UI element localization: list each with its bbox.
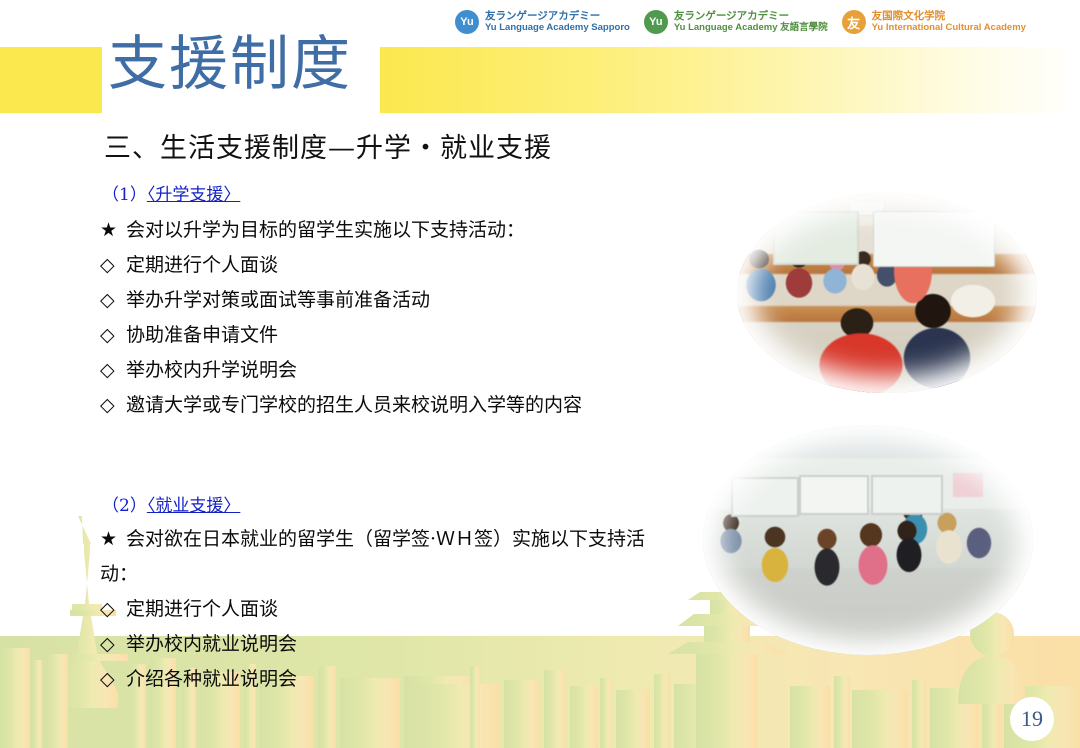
bullet-text: 协助准备申请文件	[126, 324, 278, 346]
subsection-number-1: （1）	[102, 185, 147, 205]
logo-en-name: Yu Language Academy Sapporo	[485, 23, 630, 34]
photo-classroom-with-teacher	[737, 193, 1037, 393]
photo-vignette-mask	[703, 425, 1033, 655]
yu-circle-logo-icon: Yu	[644, 10, 668, 34]
subsection-title-2: 〈就业支援〉	[147, 496, 241, 516]
logo-yu-international-cultural-academy: 友 友国際文化学院 Yu International Cultural Acad…	[842, 10, 1026, 34]
diamond-bullet-icon: ◇	[100, 324, 126, 346]
diamond-bullet-icon: ◇	[100, 289, 126, 311]
bullet-text: 举办升学对策或面试等事前准备活动	[126, 289, 430, 311]
photo-vignette-mask	[737, 193, 1037, 393]
you-circle-logo-icon: 友	[842, 10, 866, 34]
logo-jp-name: 友ランゲージアカデミー	[485, 11, 630, 23]
logo-jp-name: 友ランゲージアカデミー	[674, 11, 828, 23]
logo-en-name: Yu International Cultural Academy	[872, 23, 1026, 34]
subsection-label-1: （1）〈升学支援〉	[102, 180, 240, 205]
logo-yu-language-academy-taipei: Yu 友ランゲージアカデミー Yu Language Academy 友語言學院	[644, 10, 828, 34]
logo-en-name: Yu Language Academy 友語言學院	[674, 23, 828, 34]
bullet-text: 举办校内就业说明会	[126, 633, 297, 655]
bullet-line: ★会对欲在日本就业的留学生（留学签·ＷＨ签）实施以下支持活	[100, 524, 645, 551]
bullet-line: ◇举办校内就业说明会	[100, 629, 297, 656]
bullet-text: 会对欲在日本就业的留学生（留学签·ＷＨ签）实施以下支持活	[126, 528, 645, 550]
bullet-line: ◇举办升学对策或面试等事前准备活动	[100, 285, 430, 312]
bullet-line: ◇邀请大学或专门学校的招生人员来校说明入学等的内容	[100, 390, 582, 417]
bullet-line: ◇定期进行个人面谈	[100, 594, 278, 621]
bullet-line: ★会对以升学为目标的留学生实施以下支持活动：	[100, 215, 525, 242]
bullet-text: 会对以升学为目标的留学生实施以下支持活动：	[126, 219, 525, 241]
diamond-bullet-icon: ◇	[100, 633, 126, 655]
bullet-text: 定期进行个人面谈	[126, 598, 278, 620]
bullet-line-continuation: 动：	[100, 559, 138, 586]
subsection-title-1: 〈升学支援〉	[147, 185, 241, 205]
diamond-bullet-icon: ◇	[100, 394, 126, 416]
bullet-line: ◇举办校内升学说明会	[100, 355, 297, 382]
bullet-line: ◇介绍各种就业说明会	[100, 664, 297, 691]
academy-logos: Yu 友ランゲージアカデミー Yu Language Academy Sappo…	[455, 4, 1080, 40]
slide-root: Yu 友ランゲージアカデミー Yu Language Academy Sappo…	[0, 0, 1080, 748]
diamond-bullet-icon: ◇	[100, 668, 126, 690]
logo-jp-name: 友国際文化学院	[872, 11, 1026, 23]
bullet-text: 介绍各种就业说明会	[126, 668, 297, 690]
star-bullet-icon: ★	[100, 528, 126, 550]
bullet-text: 邀请大学或专门学校的招生人员来校说明入学等的内容	[126, 394, 582, 416]
bullet-text: 举办校内升学说明会	[126, 359, 297, 381]
bullet-line: ◇定期进行个人面谈	[100, 250, 278, 277]
logo-yu-language-academy-sapporo: Yu 友ランゲージアカデミー Yu Language Academy Sappo…	[455, 10, 630, 34]
subsection-label-2: （2）〈就业支援〉	[102, 491, 240, 516]
photo-seminar-room-audience	[703, 425, 1033, 655]
bullet-text: 动：	[100, 563, 138, 585]
diamond-bullet-icon: ◇	[100, 254, 126, 276]
page-number: 19	[1010, 697, 1054, 741]
diamond-bullet-icon: ◇	[100, 598, 126, 620]
bullet-text: 定期进行个人面谈	[126, 254, 278, 276]
star-bullet-icon: ★	[100, 219, 126, 241]
yu-circle-logo-icon: Yu	[455, 10, 479, 34]
subsection-number-2: （2）	[102, 496, 147, 516]
bullet-line: ◇协助准备申请文件	[100, 320, 278, 347]
diamond-bullet-icon: ◇	[100, 359, 126, 381]
